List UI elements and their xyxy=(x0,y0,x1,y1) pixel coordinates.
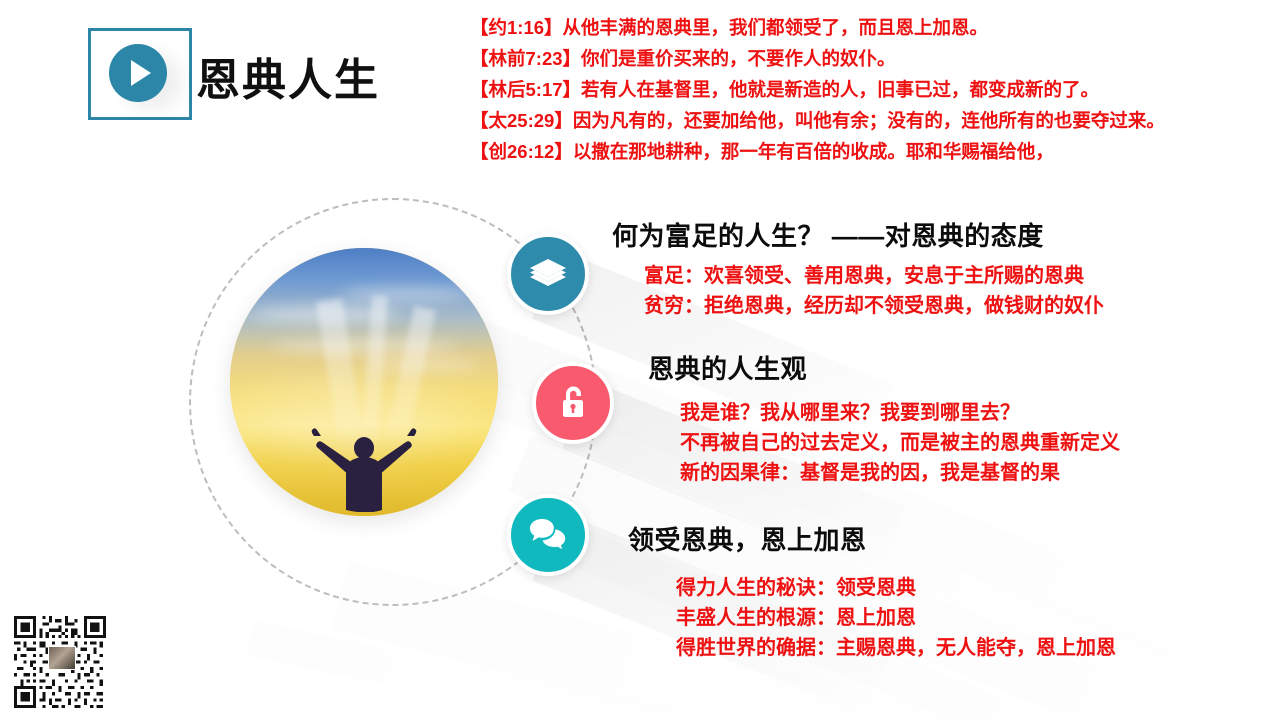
qr-center-image xyxy=(48,646,76,670)
scripture-line: 【创26:12】以撒在那地耕种，那一年有百倍的收成。耶和华赐福给他， xyxy=(470,136,1270,167)
section-badge-3[interactable] xyxy=(507,494,589,576)
brand-logo[interactable] xyxy=(88,28,192,120)
slide-canvas: 恩典人生 【约1:16】从他丰满的恩典里，我们都领受了，而且恩上加恩。 【林前7… xyxy=(0,0,1280,720)
section-1-line: 富足：欢喜领受、善用恩典，安息于主所赐的恩典 xyxy=(644,261,1104,291)
play-button-icon xyxy=(109,44,167,102)
section-1: 何为富足的人生？ ——对恩典的态度 富足：欢喜领受、善用恩典，安息于主所赐的恩典… xyxy=(612,216,1104,321)
section-2: 恩典的人生观 我是谁？我从哪里来？我要到哪里去？ 不再被自己的过去定义，而是被主… xyxy=(648,349,1120,488)
section-badge-1[interactable] xyxy=(507,233,589,315)
scripture-line: 【太25:29】因为凡有的，还要加给他，叫他有余；没有的，连他所有的也要夺过来。 xyxy=(470,105,1270,136)
section-3: 领受恩典，恩上加恩 得力人生的秘诀：领受恩典 丰盛人生的根源：恩上加恩 得胜世界… xyxy=(628,520,1116,663)
scripture-line: 【约1:16】从他丰满的恩典里，我们都领受了，而且恩上加恩。 xyxy=(470,12,1270,43)
scripture-line: 【林前7:23】你们是重价买来的，不要作人的奴仆。 xyxy=(470,43,1270,74)
scripture-line: 【林后5:17】若有人在基督里，他就是新造的人，旧事已过，都变成新的了。 xyxy=(470,74,1270,105)
section-2-line: 新的因果律：基督是我的因，我是基督的果 xyxy=(680,458,1120,488)
section-1-heading: 何为富足的人生？ ——对恩典的态度 xyxy=(612,216,1104,253)
section-3-line: 得胜世界的确据：主赐恩典，无人能夺，恩上加恩 xyxy=(676,633,1116,663)
section-1-line: 贫穷：拒绝恩典，经历却不领受恩典，做钱财的奴仆 xyxy=(644,291,1104,321)
section-3-line: 得力人生的秘诀：领受恩典 xyxy=(676,573,1116,603)
page-title: 恩典人生 xyxy=(196,44,380,108)
layers-icon xyxy=(528,257,568,291)
scripture-block: 【约1:16】从他丰满的恩典里，我们都领受了，而且恩上加恩。 【林前7:23】你… xyxy=(470,12,1270,167)
unlock-icon xyxy=(556,383,590,423)
section-3-heading: 领受恩典，恩上加恩 xyxy=(628,520,1116,557)
chat-bubbles-icon xyxy=(528,517,568,553)
qr-code[interactable] xyxy=(14,616,106,708)
hero-photo xyxy=(230,248,498,516)
section-badge-2[interactable] xyxy=(532,362,614,444)
section-2-line: 不再被自己的过去定义，而是被主的恩典重新定义 xyxy=(680,428,1120,458)
section-2-line: 我是谁？我从哪里来？我要到哪里去？ xyxy=(680,398,1120,428)
person-silhouette xyxy=(304,422,424,512)
section-2-heading: 恩典的人生观 xyxy=(648,349,1120,386)
section-3-line: 丰盛人生的根源：恩上加恩 xyxy=(676,603,1116,633)
